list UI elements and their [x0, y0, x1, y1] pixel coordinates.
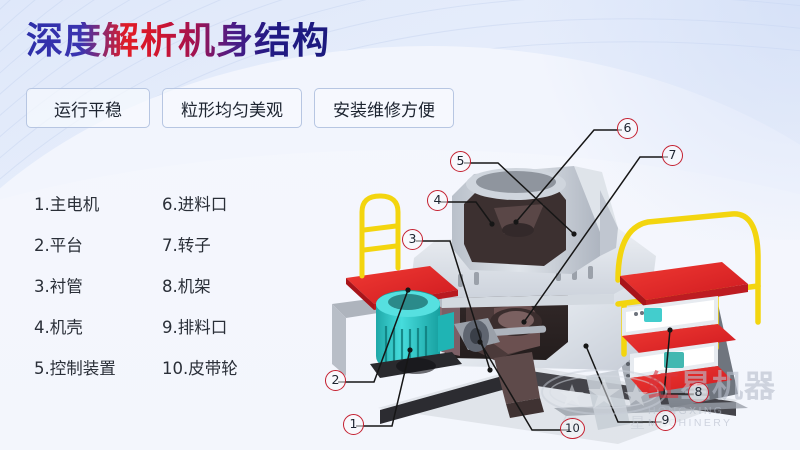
parts-item-4: 4.机壳 — [34, 314, 162, 338]
callout-marker-8[interactable]: 8 — [688, 382, 709, 403]
parts-item-10: 10.皮带轮 — [162, 355, 292, 379]
parts-item-2: 2.平台 — [34, 232, 162, 256]
handrail-left — [362, 196, 398, 276]
callout-marker-5[interactable]: 5 — [450, 151, 471, 172]
parts-item-1: 1.主电机 — [34, 191, 162, 215]
callout-marker-7[interactable]: 7 — [662, 145, 683, 166]
parts-item-8: 8.机架 — [162, 273, 292, 297]
feature-badge-2[interactable]: 粒形均匀美观 — [162, 88, 302, 128]
callout-marker-3[interactable]: 3 — [402, 229, 423, 250]
callout-marker-10[interactable]: 10 — [560, 418, 585, 439]
parts-item-6: 6.进料口 — [162, 191, 292, 215]
feature-badge-1[interactable]: 运行平稳 — [26, 88, 150, 128]
machine-upper-drum — [452, 166, 618, 274]
parts-item-9: 9.排料口 — [162, 314, 292, 338]
callout-marker-6[interactable]: 6 — [617, 118, 638, 139]
callout-marker-1[interactable]: 1 — [343, 414, 364, 435]
parts-item-5: 5.控制装置 — [34, 355, 162, 379]
callout-marker-9[interactable]: 9 — [655, 410, 676, 431]
vsi-crusher-cutaway-illustration — [318, 108, 800, 450]
parts-item-7: 7.转子 — [162, 232, 292, 256]
parts-item-3: 3.衬管 — [34, 273, 162, 297]
callout-marker-2[interactable]: 2 — [325, 370, 346, 391]
slide-canvas: 深度解析机身结构 运行平稳 粒形均匀美观 安装维修方便 1.主电机 6.进料口 … — [0, 0, 800, 450]
parts-legend-list: 1.主电机 6.进料口 2.平台 7.转子 3.衬管 8.机架 4.机壳 9.排… — [34, 182, 292, 387]
page-title: 深度解析机身结构 — [26, 22, 330, 59]
callout-marker-4[interactable]: 4 — [427, 190, 448, 211]
